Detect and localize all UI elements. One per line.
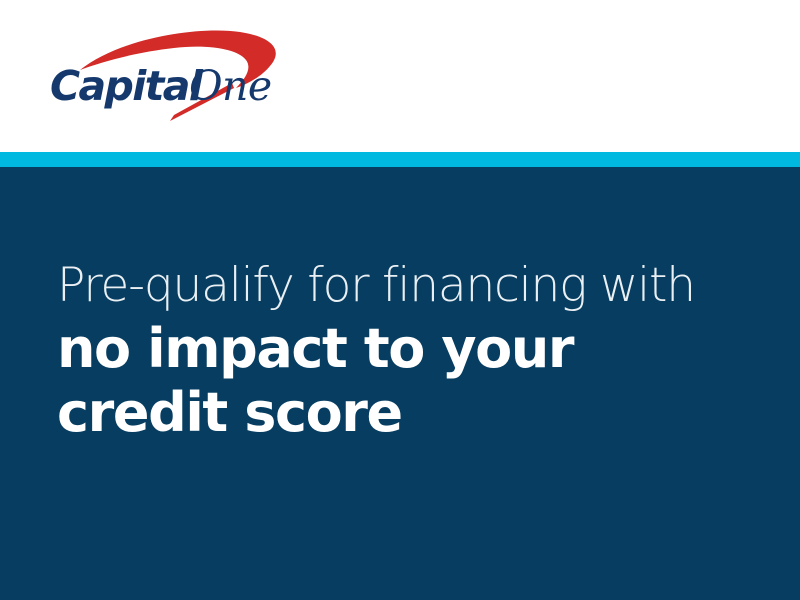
cyan-divider <box>0 152 800 167</box>
capital-one-logo: Capital One <box>48 26 288 122</box>
headline-line-3: credit score <box>57 381 757 445</box>
logo-wordmark-capital: Capital <box>50 62 204 110</box>
hero-panel: Pre-qualify for financing with no impact… <box>0 167 800 600</box>
headline-line-2: no impact to your <box>57 317 757 381</box>
headline-block: Pre-qualify for financing with no impact… <box>57 255 757 445</box>
promo-banner: Capital One Pre-qualify for financing wi… <box>0 0 800 600</box>
headline-line-1: Pre-qualify for financing with <box>57 255 757 317</box>
logo-wordmark-one: One <box>189 62 271 110</box>
header-band: Capital One <box>0 0 800 152</box>
